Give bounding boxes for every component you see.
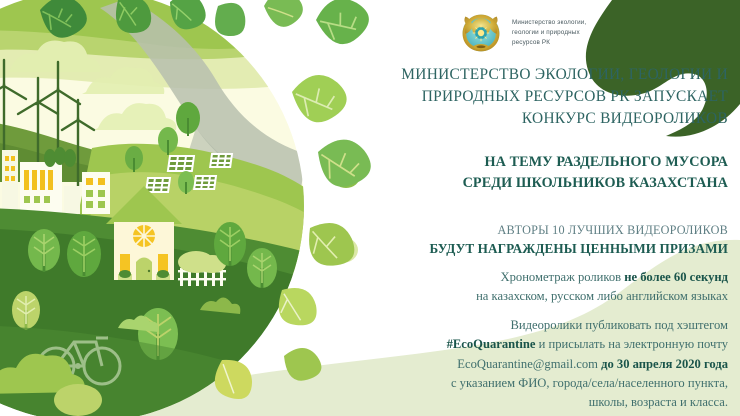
- leaf: [207, 354, 260, 406]
- leaf: [169, 0, 206, 30]
- ministry-name-text: Министерство экологии, геологии и природ…: [512, 18, 586, 49]
- subheadline-topic: НА ТЕМУ РАЗДЕЛЬНОГО МУСОРА СРЕДИ ШКОЛЬНИ…: [330, 152, 728, 193]
- prize-line-2: БУДУТ НАГРАЖДЕНЫ ЦЕННЫМИ ПРИЗАМИ: [330, 239, 728, 258]
- howto-block: Видеоролики публиковать под хэштегом #Ec…: [330, 316, 728, 412]
- headline-line-2: ПРИРОДНЫХ РЕСУРСОВ РК ЗАПУСКАЕТ: [330, 86, 728, 108]
- headline-line-3: КОНКУРС ВИДЕОРОЛИКОВ: [330, 108, 728, 130]
- prize-block: АВТОРЫ 10 ЛУЧШИХ ВИДЕОРОЛИКОВ БУДУТ НАГР…: [330, 221, 728, 258]
- leaf: [38, 0, 90, 42]
- howto-line-4: с указанием ФИО, города/села/населенного…: [330, 374, 728, 393]
- howto-line-1: Видеоролики публиковать под хэштегом: [330, 316, 728, 335]
- deadline-text: до 30 апреля 2020 года: [601, 357, 728, 371]
- howto-plain-2: и присылать на электронную почту: [535, 337, 728, 351]
- kazakhstan-state-emblem-icon: [458, 10, 504, 56]
- email-text: EcoQuarantine@gmail.com: [457, 357, 601, 371]
- timing-bold: не более 60 секунд: [624, 270, 728, 284]
- howto-line-3: EcoQuarantine@gmail.com до 30 апреля 202…: [330, 355, 728, 374]
- hashtag-text: #EcoQuarantine: [447, 337, 536, 351]
- timing-block: Хронометраж роликов не более 60 секунд н…: [330, 268, 728, 306]
- howto-line-2: #EcoQuarantine и присылать на электронну…: [330, 335, 728, 354]
- timing-line-2: на казахском, русском либо английском яз…: [330, 287, 728, 306]
- leaf: [273, 283, 323, 330]
- timing-plain: Хронометраж роликов: [501, 270, 625, 284]
- timing-line-1: Хронометраж роликов не более 60 секунд: [330, 268, 728, 287]
- leaf: [211, 0, 251, 40]
- leaf: [261, 0, 308, 32]
- leaf: [283, 346, 322, 382]
- poster-text-content: Министерство экологии, геологии и природ…: [330, 0, 740, 416]
- ministry-brand: Министерство экологии, геологии и природ…: [458, 10, 728, 56]
- headline-line-1: МИНИСТЕРСТВО ЭКОЛОГИИ, ГЕОЛОГИИ И: [330, 64, 728, 86]
- howto-line-5: школы, возраста и класса.: [330, 393, 728, 412]
- leaf: [113, 0, 155, 36]
- headline-title: МИНИСТЕРСТВО ЭКОЛОГИИ, ГЕОЛОГИИ И ПРИРОД…: [330, 64, 728, 130]
- subhead-line-2: СРЕДИ ШКОЛЬНИКОВ КАЗАХСТАНА: [330, 173, 728, 194]
- subhead-line-1: НА ТЕМУ РАЗДЕЛЬНОГО МУСОРА: [330, 152, 728, 173]
- prize-line-1: АВТОРЫ 10 ЛУЧШИХ ВИДЕОРОЛИКОВ: [330, 221, 728, 239]
- poster-canvas: Министерство экологии, геологии и природ…: [0, 0, 740, 416]
